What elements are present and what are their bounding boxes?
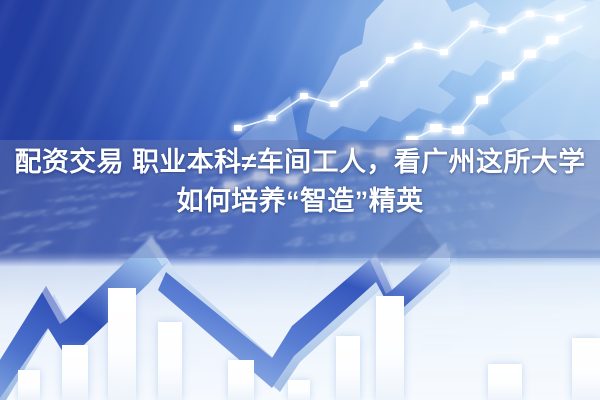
bar-column [62, 345, 88, 400]
glow-node [546, 36, 558, 44]
bar-column [488, 364, 522, 400]
glow-node [300, 93, 308, 99]
glow-node [526, 11, 534, 17]
bar-column [18, 370, 40, 400]
glow-node [524, 50, 536, 58]
glow-node [234, 125, 242, 131]
glow-node [268, 115, 276, 121]
glow-node [414, 43, 422, 49]
glow-node [386, 57, 394, 63]
glow-node [476, 96, 488, 104]
bar-column [572, 338, 600, 400]
glow-node [360, 81, 368, 87]
glow-node [470, 21, 478, 27]
bar-column [158, 322, 182, 400]
bar-column [288, 380, 310, 400]
bar-column [228, 360, 254, 400]
bar-column [108, 288, 136, 400]
glow-node [330, 101, 338, 107]
bar-column [336, 336, 360, 400]
glow-node [430, 124, 442, 132]
glow-node [440, 49, 448, 55]
page-title: 配资交易 职业本科≠车间工人，看广州这所大学如何培养“智造”精英 [0, 143, 600, 221]
glow-node [502, 72, 514, 80]
finance-news-banner: -26.32-50.02-02.36+45.0221.151.16-11.25+… [0, 0, 600, 400]
bar-column [376, 296, 404, 400]
glow-polyline [238, 6, 586, 128]
bar-chart-icon [0, 250, 600, 400]
glow-node [452, 126, 464, 134]
lower-light-wash [0, 252, 600, 400]
glow-node [556, 15, 564, 21]
glow-node [498, 27, 506, 33]
